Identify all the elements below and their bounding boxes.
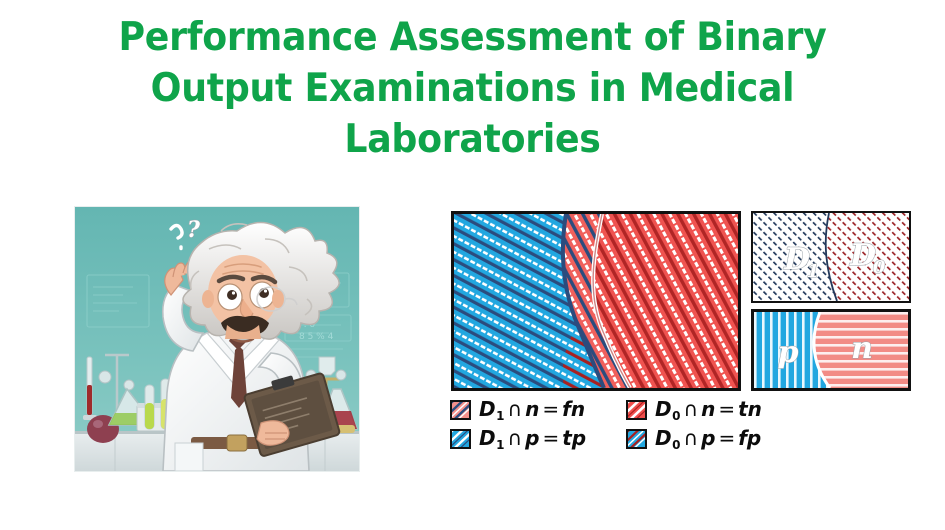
label-n: n [851,331,873,366]
legend-label-fp: D0∩p=fp [655,428,761,451]
legend-label-tp: D1∩p=tp [479,428,586,451]
disease-status-panel: D 1 D 0 [751,211,911,303]
legend-swatch-fp [626,429,647,449]
label-d1-sub: 1 [807,261,820,282]
legend-label-tn: D0∩n=tn [655,399,762,422]
legend-swatch-fn [450,400,471,420]
legend-label-fn: D1∩n=fn [479,399,585,422]
page-title: Performance Assessment of Binary Output … [89,12,856,165]
legend-item-tn: D0∩n=tn [626,396,762,424]
scientist-illustration: D M 0 1 : σ 8 5 % 4 [75,207,359,471]
label-d0-sub: 0 [873,257,886,278]
legend-item-fp: D0∩p=fp [626,425,761,453]
label-p: p [778,335,799,370]
legend: D1∩n=fn D1∩p=tp [448,396,914,458]
legend-swatch-tn [626,400,647,420]
scientist-photo: D M 0 1 : σ 8 5 % 4 [75,207,359,471]
legend-item-fn: D1∩n=fn [450,396,585,424]
confusion-regions-panel [451,211,741,391]
legend-swatch-tp [450,429,471,449]
confusion-matrix-figure: D 1 D 0 p n [448,206,914,461]
svg-text:8 5 % 4: 8 5 % 4 [299,332,334,342]
test-result-panel: p n [751,309,911,391]
legend-item-tp: D1∩p=tp [450,425,586,453]
svg-text:?: ? [187,217,201,243]
